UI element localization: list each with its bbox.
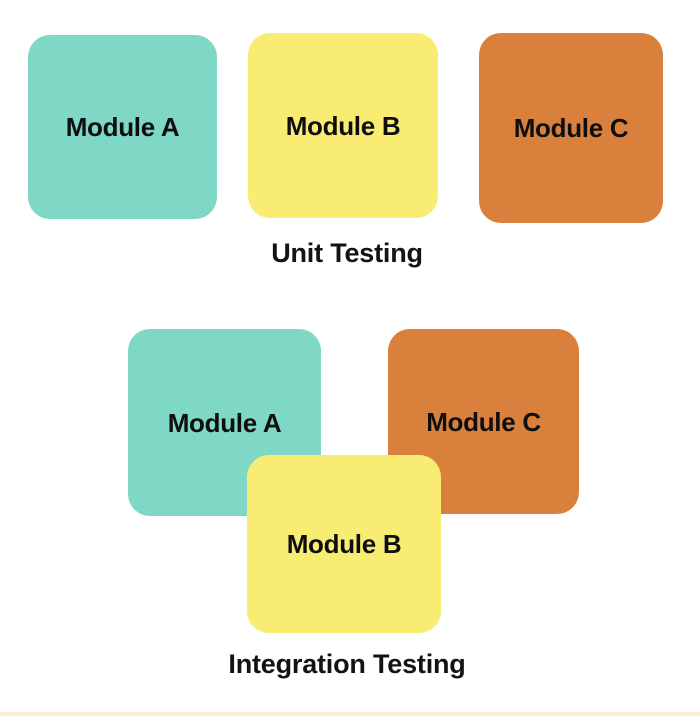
unit-module-c-card[interactable]: Module C bbox=[479, 33, 663, 223]
integration-module-a-label: Module A bbox=[168, 410, 282, 436]
unit-module-c-label: Module C bbox=[514, 115, 629, 141]
integration-module-c-label: Module C bbox=[426, 409, 541, 435]
unit-module-a-card[interactable]: Module A bbox=[28, 35, 217, 219]
unit-testing-caption: Unit Testing bbox=[0, 240, 697, 267]
diagram-canvas: Module A Module B Module C Unit Testing … bbox=[0, 0, 700, 720]
integration-module-b-card[interactable]: Module B bbox=[247, 455, 441, 633]
integration-testing-caption: Integration Testing bbox=[0, 651, 697, 678]
footer-divider bbox=[0, 712, 700, 716]
unit-module-a-label: Module A bbox=[66, 114, 180, 140]
unit-module-b-label: Module B bbox=[286, 113, 401, 139]
integration-module-b-label: Module B bbox=[287, 531, 402, 557]
unit-module-b-card[interactable]: Module B bbox=[248, 33, 438, 218]
